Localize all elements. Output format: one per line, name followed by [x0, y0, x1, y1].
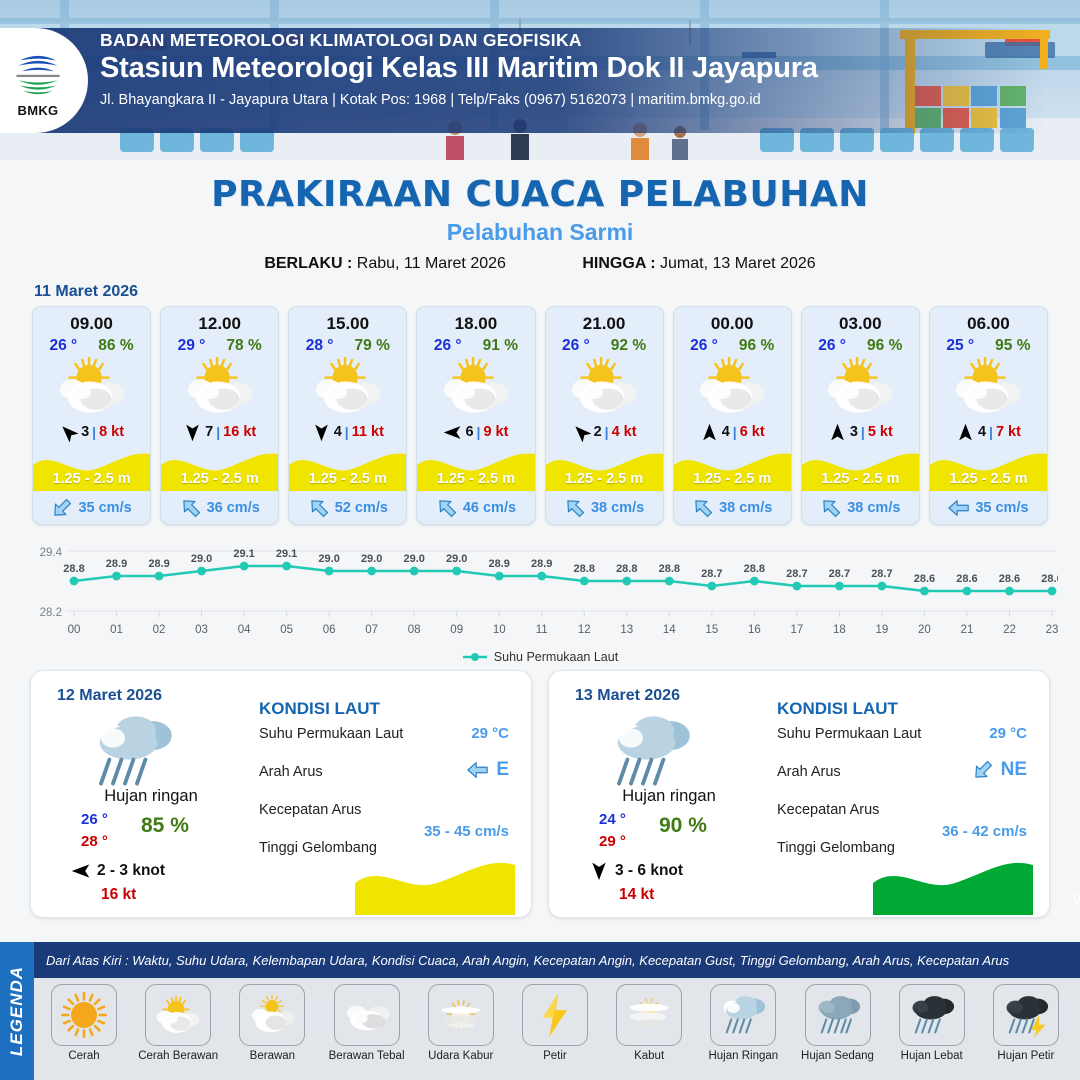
svg-text:14: 14: [663, 624, 676, 636]
chart-legend: Suhu Permukaan Laut: [0, 650, 1080, 664]
current-direction-arrow-icon: [308, 497, 330, 519]
daily-forecast-panel[interactable]: 12 Maret 2026 Hujan ringan 26 ° 28 ° 85 …: [30, 670, 532, 918]
wave-height: 1.25 - 2.5 m: [802, 471, 919, 487]
daily-wind-range: 2 - 3 knot: [97, 862, 165, 880]
legend-item: Hujan Ringan: [697, 984, 789, 1080]
moderate-rain-icon: [805, 984, 871, 1046]
card-humidity: 86 %: [98, 337, 133, 355]
wind-separator: |: [605, 424, 609, 440]
card-wind: 2 | 4 kt: [546, 417, 663, 447]
legend-item: Hujan Sedang: [792, 984, 884, 1080]
svg-text:00: 00: [68, 624, 81, 636]
sst-row: Suhu Permukaan Laut 29 °C: [777, 725, 1035, 763]
svg-text:29.0: 29.0: [318, 553, 339, 565]
card-temperature: 26 °: [434, 337, 462, 355]
card-time: 03.00: [802, 307, 919, 334]
legend-marker-icon: [462, 652, 488, 662]
wind-gust: 6 kt: [740, 424, 765, 440]
card-temperature: 26 °: [690, 337, 718, 355]
hourly-forecast-card[interactable]: 09.00 26 ° 86 % 3 | 8 kt 1.25 - 2.5 m 35…: [32, 306, 151, 525]
wind-speed: 3: [81, 424, 89, 440]
svg-text:19: 19: [876, 624, 889, 636]
hourly-forecast-card[interactable]: 21.00 26 ° 92 % 2 | 4 kt 1.25 - 2.5 m 38…: [545, 306, 664, 525]
card-weather-icon: [33, 355, 150, 417]
wind-separator: |: [216, 424, 220, 440]
card-temperature: 29 °: [178, 337, 206, 355]
wind-separator: |: [92, 424, 96, 440]
hourly-forecast-card[interactable]: 15.00 28 ° 79 % 4 | 11 kt 1.25 - 2.5 m 5…: [288, 306, 407, 525]
port-name: Pelabuhan Sarmi: [0, 219, 1080, 246]
legend-note-bar: Dari Atas Kiri : Waktu, Suhu Udara, Kele…: [34, 942, 1080, 978]
legend-item-label: Berawan: [226, 1050, 318, 1062]
current-speed: 52 cm/s: [335, 500, 388, 516]
svg-text:29.0: 29.0: [403, 553, 424, 565]
legend-note: Dari Atas Kiri : Waktu, Suhu Udara, Kele…: [46, 953, 1009, 968]
svg-text:29.1: 29.1: [276, 548, 297, 560]
legend-item-label: Hujan Ringan: [697, 1050, 789, 1062]
svg-text:08: 08: [408, 624, 421, 636]
card-time: 00.00: [674, 307, 791, 334]
wind-direction-arrow-icon: [443, 423, 462, 442]
current-direction-label: Arah Arus: [777, 764, 841, 780]
wind-separator: |: [989, 424, 993, 440]
current-speed-row: Kecepatan Arus 35 - 45 cm/s: [259, 801, 517, 839]
daily-temp-max: 29 °: [599, 833, 626, 850]
card-wave: 1.25 - 2.5 m: [417, 447, 534, 491]
cloudy-icon: [239, 984, 305, 1046]
svg-text:01: 01: [110, 624, 123, 636]
svg-text:28.9: 28.9: [148, 558, 169, 570]
wind-direction-arrow-icon: [956, 423, 975, 442]
current-speed: 46 cm/s: [463, 500, 516, 516]
card-current: 36 cm/s: [161, 491, 278, 524]
svg-text:18: 18: [833, 624, 846, 636]
wind-direction-arrow-icon: [59, 423, 78, 442]
current-direction-arrow-icon: [948, 497, 970, 519]
card-temperature: 26 °: [818, 337, 846, 355]
card-weather-icon: [161, 355, 278, 417]
current-direction-arrow-icon: [51, 497, 73, 519]
card-humidity: 92 %: [611, 337, 646, 355]
daily-wave-shape-icon: [355, 857, 515, 915]
card-weather-icon: [930, 355, 1047, 417]
current-direction-value-group: E: [465, 759, 509, 781]
daily-date: 12 Maret 2026: [57, 687, 162, 705]
sun-cloud-icon: [145, 984, 211, 1046]
daily-wave-shape: 0.5 - 1.25 m: [873, 857, 1033, 915]
svg-text:07: 07: [365, 624, 378, 636]
daily-date: 13 Maret 2026: [575, 687, 680, 705]
card-wind: 7 | 16 kt: [161, 417, 278, 447]
wind-speed: 7: [205, 424, 213, 440]
card-wind: 4 | 11 kt: [289, 417, 406, 447]
svg-text:28.6: 28.6: [914, 573, 935, 585]
card-wave: 1.25 - 2.5 m: [546, 447, 663, 491]
legend-item: Kabut: [603, 984, 695, 1080]
legend-item-label: Cerah Berawan: [132, 1050, 224, 1062]
daily-wind: 3 - 6 knot: [589, 861, 683, 881]
card-current: 46 cm/s: [417, 491, 534, 524]
wind-speed: 3: [850, 424, 858, 440]
daily-temp-min: 26 °: [81, 811, 108, 828]
wind-gust: 11 kt: [352, 424, 384, 440]
legend-item-label: Hujan Lebat: [886, 1050, 978, 1062]
wind-direction-arrow-icon: [828, 423, 847, 442]
svg-text:28.9: 28.9: [489, 558, 510, 570]
legend-item-label: Udara Kabur: [415, 1050, 507, 1062]
wave-height: 1.25 - 2.5 m: [289, 471, 406, 487]
chart-legend-label: Suhu Permukaan Laut: [494, 650, 618, 664]
current-speed-row: Kecepatan Arus 36 - 42 cm/s: [777, 801, 1035, 839]
svg-text:16: 16: [748, 624, 761, 636]
legend-item-label: Berawan Tebal: [321, 1050, 413, 1062]
daily-temp-min: 24 °: [599, 811, 626, 828]
wave-height: 1.25 - 2.5 m: [33, 471, 150, 487]
current-speed-value: 35 - 45 cm/s: [424, 823, 509, 840]
daily-temp-max: 28 °: [81, 833, 108, 850]
current-direction-arrow-icon: [436, 497, 458, 519]
svg-text:28.9: 28.9: [531, 558, 552, 570]
svg-text:11: 11: [536, 624, 548, 636]
agency-name: BADAN METEOROLOGI KLIMATOLOGI DAN GEOFIS…: [100, 30, 818, 51]
hourly-forecast-card[interactable]: 06.00 25 ° 95 % 4 | 7 kt 1.25 - 2.5 m 35…: [929, 306, 1048, 525]
svg-text:17: 17: [790, 624, 803, 636]
wind-speed: 6: [465, 424, 473, 440]
title-section: PRAKIRAAN CUACA PELABUHAN Pelabuhan Sarm…: [0, 160, 1080, 273]
card-weather-icon: [674, 355, 791, 417]
sea-condition-block: KONDISI LAUT Suhu Permukaan Laut 29 °C A…: [777, 699, 1035, 907]
sea-condition-block: KONDISI LAUT Suhu Permukaan Laut 29 °C A…: [259, 699, 517, 907]
wave-height: 1.25 - 2.5 m: [161, 471, 278, 487]
card-time: 09.00: [33, 307, 150, 334]
svg-text:21: 21: [961, 624, 974, 636]
legend-item: Cerah: [38, 984, 130, 1080]
daily-wave-shape: 1.25 - 2.5 m: [355, 857, 515, 915]
card-wind: 3 | 8 kt: [33, 417, 150, 447]
svg-text:04: 04: [238, 624, 251, 636]
current-direction-label: Arah Arus: [259, 764, 323, 780]
svg-text:15: 15: [705, 624, 718, 636]
card-humidity: 78 %: [226, 337, 261, 355]
wind-separator: |: [861, 424, 865, 440]
svg-text:09: 09: [450, 624, 463, 636]
svg-text:28.7: 28.7: [701, 568, 722, 580]
legend-section: LEGENDA Dari Atas Kiri : Waktu, Suhu Uda…: [0, 942, 1080, 1080]
svg-text:28.6: 28.6: [999, 573, 1020, 585]
valid-to-label: HINGGA :: [582, 255, 655, 272]
card-wind: 4 | 6 kt: [674, 417, 791, 447]
daily-current-arrow-icon: [970, 759, 996, 781]
wind-speed: 4: [978, 424, 986, 440]
daily-humidity: 90 %: [659, 814, 707, 838]
svg-text:06: 06: [323, 624, 336, 636]
card-wave: 1.25 - 2.5 m: [33, 447, 150, 491]
hourly-day-label: 11 Maret 2026: [34, 283, 1080, 301]
card-current: 52 cm/s: [289, 491, 406, 524]
bmkg-logo-mark: [11, 44, 65, 102]
svg-text:28.8: 28.8: [63, 563, 84, 575]
valid-from-value: Rabu, 11 Maret 2026: [357, 255, 506, 272]
svg-text:28.7: 28.7: [829, 568, 850, 580]
card-wave: 1.25 - 2.5 m: [674, 447, 791, 491]
wind-direction-arrow-icon: [572, 423, 591, 442]
current-speed: 35 cm/s: [78, 500, 131, 516]
current-direction-arrow-icon: [564, 497, 586, 519]
card-time: 15.00: [289, 307, 406, 334]
wind-speed: 2: [594, 424, 602, 440]
sst-value: 29 °C: [989, 725, 1027, 742]
svg-text:28.9: 28.9: [106, 558, 127, 570]
svg-text:12: 12: [578, 624, 591, 636]
card-current: 35 cm/s: [930, 491, 1047, 524]
hourly-forecast-card[interactable]: 12.00 29 ° 78 % 7 | 16 kt 1.25 - 2.5 m 3…: [160, 306, 279, 525]
card-current: 35 cm/s: [33, 491, 150, 524]
hourly-forecast-card[interactable]: 18.00 26 ° 91 % 6 | 9 kt 1.25 - 2.5 m 46…: [416, 306, 535, 525]
sst-value: 29 °C: [471, 725, 509, 742]
card-weather-icon: [802, 355, 919, 417]
current-speed: 38 cm/s: [591, 500, 644, 516]
page-title: PRAKIRAAN CUACA PELABUHAN: [0, 174, 1080, 215]
card-weather-icon: [289, 355, 406, 417]
card-time: 06.00: [930, 307, 1047, 334]
card-current: 38 cm/s: [802, 491, 919, 524]
svg-text:28.8: 28.8: [744, 563, 765, 575]
bmkg-logo-text: BMKG: [18, 103, 59, 118]
wind-separator: |: [345, 424, 349, 440]
card-weather-icon: [546, 355, 663, 417]
card-temperature: 26 °: [562, 337, 590, 355]
card-wind: 4 | 7 kt: [930, 417, 1047, 447]
daily-condition: Hujan ringan: [31, 787, 271, 806]
legend-item: Hujan Petir: [980, 984, 1072, 1080]
svg-text:28.8: 28.8: [574, 563, 595, 575]
daily-wind-direction-arrow-icon: [589, 861, 609, 881]
sea-condition-title: KONDISI LAUT: [259, 699, 517, 719]
current-direction-arrow-icon: [820, 497, 842, 519]
daily-wind: 2 - 3 knot: [71, 861, 165, 881]
current-direction-arrow-icon: [692, 497, 714, 519]
card-time: 12.00: [161, 307, 278, 334]
card-time: 21.00: [546, 307, 663, 334]
thunderstorm-icon: [993, 984, 1059, 1046]
page-header: BMKG BADAN METEOROLOGI KLIMATOLOGI DAN G…: [0, 0, 1080, 160]
legend-item-label: Hujan Sedang: [792, 1050, 884, 1062]
current-direction-row: Arah Arus E: [259, 763, 517, 801]
legend-item: Berawan: [226, 984, 318, 1080]
legend-item: Cerah Berawan: [132, 984, 224, 1080]
daily-forecast-panel[interactable]: 13 Maret 2026 Hujan ringan 24 ° 29 ° 90 …: [548, 670, 1050, 918]
svg-text:28.2: 28.2: [40, 607, 62, 619]
wind-gust: 16 kt: [223, 424, 256, 440]
svg-text:29.0: 29.0: [446, 553, 467, 565]
wind-separator: |: [477, 424, 481, 440]
card-current: 38 cm/s: [674, 491, 791, 524]
current-direction-value-group: NE: [970, 759, 1027, 781]
legend-item: Berawan Tebal: [321, 984, 413, 1080]
wave-height-label: Tinggi Gelombang: [777, 840, 895, 856]
card-time: 18.00: [417, 307, 534, 334]
current-speed: 36 cm/s: [207, 500, 260, 516]
daily-wind-range: 3 - 6 knot: [615, 862, 683, 880]
svg-text:29.4: 29.4: [40, 547, 63, 559]
card-humidity: 95 %: [995, 337, 1030, 355]
card-wave: 1.25 - 2.5 m: [161, 447, 278, 491]
svg-text:28.6: 28.6: [1041, 573, 1058, 585]
legend-item-label: Petir: [509, 1050, 601, 1062]
svg-text:05: 05: [280, 624, 293, 636]
legend-item: Hujan Lebat: [886, 984, 978, 1080]
wind-speed: 4: [334, 424, 342, 440]
card-humidity: 91 %: [483, 337, 518, 355]
svg-text:28.7: 28.7: [786, 568, 807, 580]
current-speed: 38 cm/s: [847, 500, 900, 516]
sunny-icon: [51, 984, 117, 1046]
current-direction-arrow-icon: [180, 497, 202, 519]
daily-gust: 14 kt: [619, 886, 654, 904]
svg-text:29.0: 29.0: [191, 553, 212, 565]
svg-text:29.1: 29.1: [233, 548, 254, 560]
wind-gust: 9 kt: [483, 424, 508, 440]
wave-height: 1.25 - 2.5 m: [930, 471, 1047, 487]
svg-text:22: 22: [1003, 624, 1016, 636]
card-wave: 1.25 - 2.5 m: [802, 447, 919, 491]
wind-separator: |: [733, 424, 737, 440]
legend-side-banner: LEGENDA: [0, 942, 34, 1080]
valid-to-value: Jumat, 13 Maret 2026: [660, 255, 816, 272]
wind-gust: 4 kt: [612, 424, 637, 440]
card-temperature: 26 °: [50, 337, 78, 355]
valid-from-label: BERLAKU :: [264, 255, 352, 272]
svg-text:28.8: 28.8: [616, 563, 637, 575]
svg-text:29.0: 29.0: [361, 553, 382, 565]
current-speed: 35 cm/s: [975, 500, 1028, 516]
card-humidity: 79 %: [355, 337, 390, 355]
wind-direction-arrow-icon: [312, 423, 331, 442]
station-name: Stasiun Meteorologi Kelas III Maritim Do…: [100, 53, 818, 85]
svg-text:10: 10: [493, 624, 506, 636]
legend-icon-list: Cerah Cerah Berawan Berawan Berawan Teba…: [34, 978, 1080, 1080]
sst-chart-svg: 29.428.200010203040506070809101112131415…: [22, 537, 1058, 647]
svg-text:02: 02: [153, 624, 166, 636]
card-temperature: 25 °: [946, 337, 974, 355]
current-speed: 38 cm/s: [719, 500, 772, 516]
legend-item: Petir: [509, 984, 601, 1080]
svg-text:13: 13: [620, 624, 633, 636]
card-wind: 3 | 5 kt: [802, 417, 919, 447]
daily-wind-direction-arrow-icon: [71, 861, 91, 881]
sst-label: Suhu Permukaan Laut: [259, 726, 403, 742]
hourly-forecast-card[interactable]: 03.00 26 ° 96 % 3 | 5 kt 1.25 - 2.5 m 38…: [801, 306, 920, 525]
card-wave: 1.25 - 2.5 m: [930, 447, 1047, 491]
current-speed-value: 36 - 42 cm/s: [942, 823, 1027, 840]
wave-height: 1.25 - 2.5 m: [417, 471, 534, 487]
lightning-icon: [522, 984, 588, 1046]
station-address: Jl. Bhayangkara II - Jayapura Utara | Ko…: [100, 92, 818, 108]
current-direction-value: NE: [1001, 759, 1027, 781]
legend-item-label: Kabut: [603, 1050, 695, 1062]
svg-text:03: 03: [195, 624, 208, 636]
sst-chart: 29.428.200010203040506070809101112131415…: [22, 537, 1058, 647]
sst-row: Suhu Permukaan Laut 29 °C: [259, 725, 517, 763]
card-current: 38 cm/s: [546, 491, 663, 524]
wave-height-label: Tinggi Gelombang: [259, 840, 377, 856]
daily-forecast-row: 12 Maret 2026 Hujan ringan 26 ° 28 ° 85 …: [0, 664, 1080, 918]
daily-wave-value: 0.5 - 1.25 m: [1033, 890, 1080, 907]
card-humidity: 96 %: [739, 337, 774, 355]
sst-label: Suhu Permukaan Laut: [777, 726, 921, 742]
current-speed-label: Kecepatan Arus: [259, 802, 361, 818]
svg-text:20: 20: [918, 624, 931, 636]
wind-gust: 8 kt: [99, 424, 124, 440]
card-humidity: 96 %: [867, 337, 902, 355]
fog-icon: [616, 984, 682, 1046]
svg-text:28.8: 28.8: [659, 563, 680, 575]
svg-text:28.7: 28.7: [871, 568, 892, 580]
sea-condition-title: KONDISI LAUT: [777, 699, 1035, 719]
daily-condition: Hujan ringan: [549, 787, 789, 806]
wind-direction-arrow-icon: [183, 423, 202, 442]
svg-text:28.6: 28.6: [956, 573, 977, 585]
card-temperature: 28 °: [306, 337, 334, 355]
validity-range: BERLAKU : Rabu, 11 Maret 2026 HINGGA : J…: [0, 255, 1080, 273]
wind-gust: 7 kt: [996, 424, 1021, 440]
hourly-forecast-row: 09.00 26 ° 86 % 3 | 8 kt 1.25 - 2.5 m 35…: [0, 306, 1080, 525]
hourly-forecast-card[interactable]: 00.00 26 ° 96 % 4 | 6 kt 1.25 - 2.5 m 38…: [673, 306, 792, 525]
daily-current-arrow-icon: [465, 759, 491, 781]
current-speed-label: Kecepatan Arus: [777, 802, 879, 818]
card-wind: 6 | 9 kt: [417, 417, 534, 447]
light-rain-icon: [710, 984, 776, 1046]
heavy-rain-icon: [899, 984, 965, 1046]
wind-gust: 5 kt: [868, 424, 893, 440]
current-direction-row: Arah Arus NE: [777, 763, 1035, 801]
wave-height: 1.25 - 2.5 m: [546, 471, 663, 487]
wave-height: 1.25 - 2.5 m: [674, 471, 791, 487]
overcast-icon: [334, 984, 400, 1046]
current-direction-value: E: [496, 759, 509, 781]
card-weather-icon: [417, 355, 534, 417]
haze-icon: [428, 984, 494, 1046]
daily-humidity: 85 %: [141, 814, 189, 838]
wind-direction-arrow-icon: [700, 423, 719, 442]
legend-item-label: Cerah: [38, 1050, 130, 1062]
card-wave: 1.25 - 2.5 m: [289, 447, 406, 491]
wind-speed: 4: [722, 424, 730, 440]
legend-side-label: LEGENDA: [7, 966, 27, 1056]
daily-wave-shape-icon: [873, 857, 1033, 915]
legend-item-label: Hujan Petir: [980, 1050, 1072, 1062]
daily-gust: 16 kt: [101, 886, 136, 904]
legend-item: Udara Kabur: [415, 984, 507, 1080]
svg-text:23: 23: [1046, 624, 1058, 636]
